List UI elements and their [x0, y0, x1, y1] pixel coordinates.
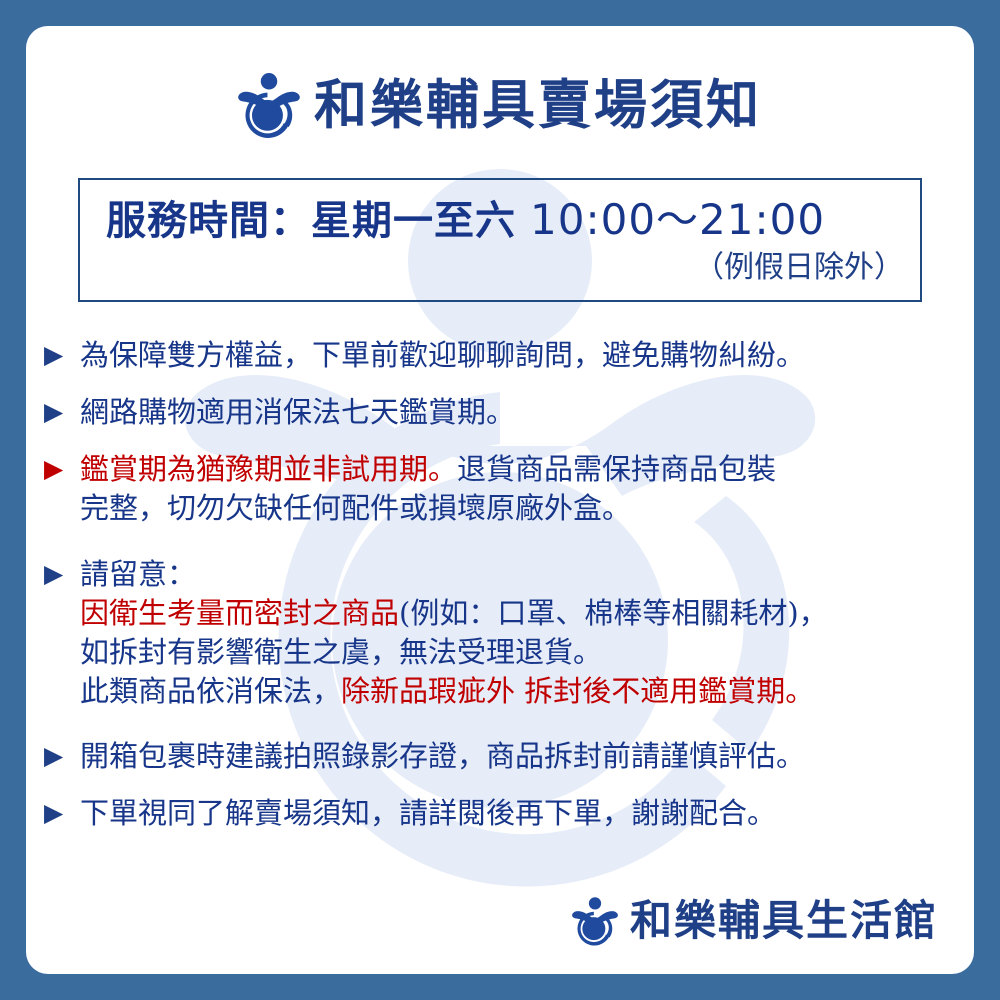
notice-text: 為保障雙方權益，下單前歡迎聊聊詢問，避免購物糾紛。 [80, 336, 960, 375]
triangle-right-icon: ▶ [44, 561, 70, 586]
notice-text: 下單視同了解賣場須知，請詳閱後再下單，謝謝配合。 [80, 794, 960, 833]
notice-segment: 下單視同了解賣場須知，請詳閱後再下單，謝謝配合。 [80, 796, 776, 830]
notice-line: 請留意： [80, 555, 960, 594]
triangle-right-icon: ▶ [44, 399, 70, 424]
service-hours-note: （例假日除外） [694, 242, 904, 286]
service-hours-time: 10:00～21:00 [530, 186, 825, 247]
notice-segment: 請留意： [80, 557, 196, 591]
notice-line: 完整，切勿欠缺任何配件或損壞原廠外盒。 [80, 489, 960, 528]
notice-line: 為保障雙方權益，下單前歡迎聊聊詢問，避免購物糾紛。 [80, 336, 960, 375]
notice-line: 下單視同了解賣場須知，請詳閱後再下單，謝謝配合。 [80, 794, 960, 833]
notice-segment: (例如：口罩、棉棒等相關耗材)， [399, 596, 828, 630]
service-hours-label: 服務時間：星期一至六 [106, 188, 516, 246]
notice-segment: 如拆封有影響衛生之虞，無法受理退貨。 [80, 635, 602, 669]
notice-segment: 開箱包裹時建議拍照錄影存證，商品拆封前請謹慎評估。 [80, 739, 805, 773]
notice-segment: 退貨商品需保持商品包裝 [457, 452, 776, 486]
notice-item: ▶下單視同了解賣場須知，請詳閱後再下單，謝謝配合。 [44, 794, 960, 833]
footer-brand-title: 和樂輔具生活館 [630, 900, 938, 942]
notice-text: 開箱包裹時建議拍照錄影存證，商品拆封前請謹慎評估。 [80, 737, 960, 776]
notice-list: ▶為保障雙方權益，下單前歡迎聊聊詢問，避免購物糾紛。▶網路購物適用消保法七天鑑賞… [44, 336, 960, 851]
notice-segment: 除新品瑕疵外 拆封後不適用鑑賞期。 [341, 674, 814, 708]
poster-header: 和樂輔具賣場須知 [26, 72, 974, 138]
triangle-right-icon: ▶ [44, 456, 70, 481]
triangle-right-icon: ▶ [44, 342, 70, 367]
notice-line: 網路購物適用消保法七天鑑賞期。 [80, 393, 960, 432]
poster-frame: 和樂輔具賣場須知 服務時間：星期一至六 10:00～21:00 （例假日除外） … [0, 0, 1000, 1000]
page-title: 和樂輔具賣場須知 [314, 79, 762, 132]
notice-text: 鑑賞期為猶豫期並非試用期。退貨商品需保持商品包裝完整，切勿欠缺任何配件或損壞原廠… [80, 450, 960, 528]
service-hours-box: 服務時間：星期一至六 10:00～21:00 （例假日除外） [78, 178, 922, 302]
notice-segment: 鑑賞期為猶豫期並非試用期。 [80, 452, 457, 486]
notice-line: 鑑賞期為猶豫期並非試用期。退貨商品需保持商品包裝 [80, 450, 960, 489]
wheelchair-accessibility-icon [238, 72, 300, 138]
notice-line: 因衛生考量而密封之商品(例如：口罩、棉棒等相關耗材)， [80, 594, 960, 633]
wheelchair-accessibility-icon [572, 896, 618, 946]
poster-footer: 和樂輔具生活館 [572, 896, 938, 946]
notice-line: 此類商品依消保法，除新品瑕疵外 拆封後不適用鑑賞期。 [80, 672, 960, 711]
triangle-right-icon: ▶ [44, 743, 70, 768]
triangle-right-icon: ▶ [44, 800, 70, 825]
poster-card: 和樂輔具賣場須知 服務時間：星期一至六 10:00～21:00 （例假日除外） … [26, 26, 974, 974]
notice-item: ▶請留意：因衛生考量而密封之商品(例如：口罩、棉棒等相關耗材)，如拆封有影響衛生… [44, 555, 960, 712]
notice-line: 如拆封有影響衛生之虞，無法受理退貨。 [80, 633, 960, 672]
notice-segment: 網路購物適用消保法七天鑑賞期。 [80, 395, 515, 429]
notice-text: 請留意：因衛生考量而密封之商品(例如：口罩、棉棒等相關耗材)，如拆封有影響衛生之… [80, 555, 960, 712]
notice-segment: 因衛生考量而密封之商品 [80, 596, 399, 630]
notice-segment: 此類商品依消保法， [80, 674, 341, 708]
notice-item: ▶開箱包裹時建議拍照錄影存證，商品拆封前請謹慎評估。 [44, 737, 960, 776]
service-hours-line: 服務時間：星期一至六 10:00～21:00 [106, 186, 825, 247]
notice-line: 開箱包裹時建議拍照錄影存證，商品拆封前請謹慎評估。 [80, 737, 960, 776]
notice-segment: 為保障雙方權益，下單前歡迎聊聊詢問，避免購物糾紛。 [80, 338, 805, 372]
notice-item: ▶為保障雙方權益，下單前歡迎聊聊詢問，避免購物糾紛。 [44, 336, 960, 375]
notice-segment: 完整，切勿欠缺任何配件或損壞原廠外盒。 [80, 491, 631, 525]
notice-item: ▶鑑賞期為猶豫期並非試用期。退貨商品需保持商品包裝完整，切勿欠缺任何配件或損壞原… [44, 450, 960, 528]
notice-text: 網路購物適用消保法七天鑑賞期。 [80, 393, 960, 432]
notice-item: ▶網路購物適用消保法七天鑑賞期。 [44, 393, 960, 432]
